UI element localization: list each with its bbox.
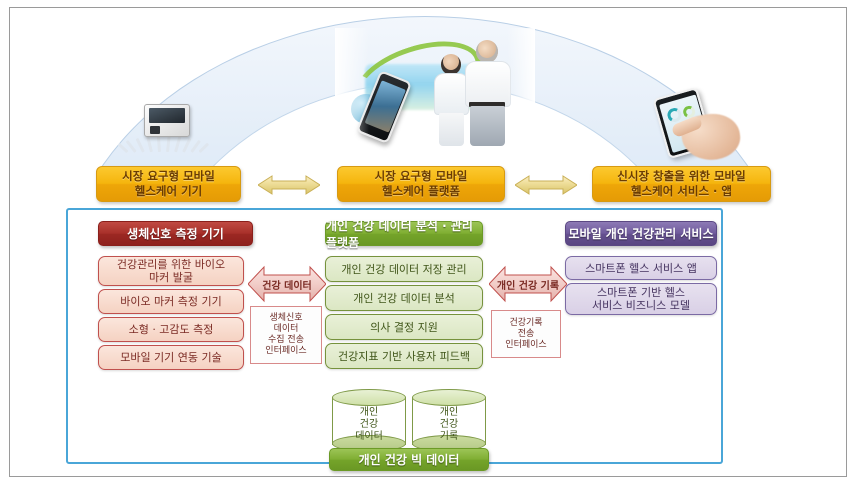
device-button [150, 126, 160, 134]
cyl2-line2: 건강 [440, 419, 458, 431]
top-label-device-line1: 시장 요구형 모바일 [122, 169, 215, 183]
device-screen [149, 108, 185, 123]
arrow-personal-health-record [489, 264, 567, 304]
item-compact-high-sensitivity-measurement[interactable]: 소형 · 고감도 측정 [98, 317, 244, 342]
measuring-device-photo [118, 96, 216, 152]
interface-box-health-record: 건강기록전송인터페이스 [491, 310, 561, 358]
diagram-root: 시장 요구형 모바일 헬스케어 기기 시장 요구형 모바일 헬스케어 플랫폼 신… [0, 0, 857, 497]
cyl1-line1: 개인 [360, 407, 378, 419]
column-header-device[interactable]: 생체신호 측정 기기 [98, 221, 253, 246]
item-user-feedback[interactable]: 건강지표 기반 사용자 피드백 [325, 343, 483, 369]
arrow-health-data [248, 264, 326, 304]
database-cylinder-health-record: 개인 건강 기록 [412, 389, 486, 451]
cyl1-line2: 건강 [360, 419, 378, 431]
double-arrow-platform-service [515, 175, 577, 195]
photo-fade-left [335, 28, 369, 146]
cyl1-line3: 데이터 [355, 431, 383, 443]
top-label-device[interactable]: 시장 요구형 모바일 헬스케어 기기 [96, 166, 241, 202]
smartphone-elderly-couple-photo [335, 28, 535, 146]
cylinder-label-health-record: 개인 건강 기록 [412, 402, 486, 448]
top-label-service-line2: 헬스케어 서비스 · 앱 [631, 184, 732, 198]
item-biomarker-discovery[interactable]: 건강관리를 위한 바이오마커 발굴 [98, 256, 244, 286]
item-mobile-device-interworking-tech[interactable]: 모바일 기기 연동 기술 [98, 345, 244, 370]
item-health-data-storage-management[interactable]: 개인 건강 데이터 저장 관리 [325, 256, 483, 282]
hand-holding-smartphone-photo [654, 90, 750, 160]
column-header-service[interactable]: 모바일 개인 건강관리 서비스 [565, 221, 717, 246]
top-label-platform-line1: 시장 요구형 모바일 [375, 169, 468, 183]
column-header-platform[interactable]: 개인 건강 데이터 분석 · 관리 플랫폼 [325, 221, 483, 246]
double-arrow-device-platform [258, 175, 320, 195]
item-decision-support[interactable]: 의사 결정 지원 [325, 314, 483, 340]
top-label-platform[interactable]: 시장 요구형 모바일 헬스케어 플랫폼 [337, 166, 505, 202]
item-smartphone-health-service-app[interactable]: 스마트폰 헬스 서비스 앱 [565, 256, 717, 280]
device-body [144, 104, 190, 137]
photo-fade-right [507, 28, 535, 146]
top-label-service[interactable]: 신시장 창출을 위한 모바일 헬스케어 서비스 · 앱 [592, 166, 771, 202]
cyl2-line1: 개인 [440, 407, 458, 419]
top-label-device-line2: 헬스케어 기기 [135, 184, 202, 198]
cyl2-line3: 기록 [440, 431, 458, 443]
interface-box-biosignal: 생체신호데이터수집 전송인터페이스 [250, 306, 322, 364]
database-cylinder-health-data: 개인 건강 데이터 [332, 389, 406, 451]
item-smartphone-health-business-model[interactable]: 스마트폰 기반 헬스서비스 비즈니스 모델 [565, 283, 717, 315]
big-data-label[interactable]: 개인 건강 빅 데이터 [329, 448, 489, 471]
item-health-data-analysis[interactable]: 개인 건강 데이터 분석 [325, 285, 483, 311]
cylinder-label-health-data: 개인 건강 데이터 [332, 402, 406, 448]
item-biomarker-measurement-device[interactable]: 바이오 마커 측정 기기 [98, 289, 244, 314]
elderly-man-figure [463, 40, 513, 146]
top-label-service-line1: 신시장 창출을 위한 모바일 [617, 169, 745, 183]
top-label-platform-line2: 헬스케어 플랫폼 [382, 184, 460, 198]
